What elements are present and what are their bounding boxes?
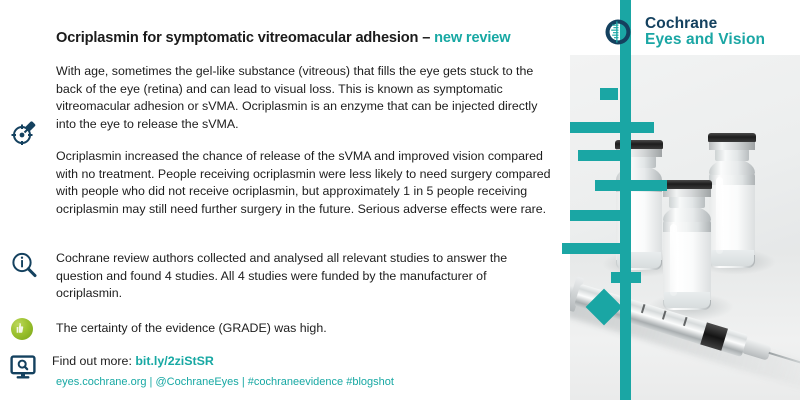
logo-line-eyes-and-vision: Eyes and Vision — [645, 32, 765, 48]
headline-accent: new review — [434, 30, 510, 46]
grade-high-badge — [11, 318, 33, 340]
monitor-search-icon — [10, 354, 36, 380]
thumbs-up-icon — [11, 318, 33, 340]
glass-vial — [708, 133, 756, 268]
teal-tick-long — [562, 243, 628, 254]
syringe-vials-photo — [570, 55, 800, 400]
teal-chip-top — [620, 0, 631, 12]
paragraph-certainty: The certainty of the evidence (GRADE) wa… — [56, 320, 556, 338]
find-out-more-link[interactable]: bit.ly/2ziStSR — [135, 354, 214, 368]
magnifier-info-icon — [9, 250, 39, 280]
logo-line-cochrane: Cochrane — [645, 16, 765, 32]
syringe-needle — [768, 352, 800, 371]
paragraph-results: Ocriplasmin increased the chance of rele… — [56, 148, 556, 218]
headline-main: Ocriplasmin for symptomatic vitreomacula… — [56, 30, 434, 46]
vial-cap-metal — [709, 141, 755, 150]
logo-wordmark: Cochrane Eyes and Vision — [645, 16, 765, 48]
teal-tick-medium — [578, 150, 623, 161]
vial-shoulder — [709, 159, 755, 175]
vial-cap — [662, 180, 712, 189]
blogshot-card: Cochrane Eyes and Vision Ocriplasmin for… — [0, 0, 800, 400]
target-syringe-icon — [9, 118, 39, 148]
teal-vertical-rule — [620, 0, 631, 400]
teal-chip-small — [600, 88, 618, 100]
find-out-more: Find out more: bit.ly/2ziStSR — [52, 354, 214, 368]
teal-tick-long — [570, 122, 654, 133]
paragraph-methods: Cochrane review authors collected and an… — [56, 250, 556, 303]
vial-cap — [708, 133, 756, 142]
vial-neck — [669, 196, 705, 208]
vial-neck — [715, 149, 750, 161]
teal-tick-short — [611, 272, 641, 283]
page-title: Ocriplasmin for symptomatic vitreomacula… — [56, 30, 556, 46]
vial-cap-metal — [663, 188, 711, 197]
vial-shoulder — [663, 206, 711, 222]
paragraph-background: With age, sometimes the gel-like substan… — [56, 63, 556, 133]
cochrane-logo-mark — [600, 14, 636, 50]
content-column: Ocriplasmin for symptomatic vitreomacula… — [0, 0, 570, 400]
vial-highlight — [716, 177, 723, 254]
social-handles[interactable]: eyes.cochrane.org | @CochraneEyes | #coc… — [56, 376, 394, 388]
vial-highlight — [670, 224, 677, 296]
glass-vial — [662, 180, 712, 310]
teal-tick-medium — [570, 210, 628, 221]
cochrane-eyes-and-vision-logo: Cochrane Eyes and Vision — [600, 14, 765, 50]
teal-tick-long — [595, 180, 667, 191]
find-out-more-label: Find out more: — [52, 354, 135, 368]
syringe-tip — [743, 339, 772, 361]
